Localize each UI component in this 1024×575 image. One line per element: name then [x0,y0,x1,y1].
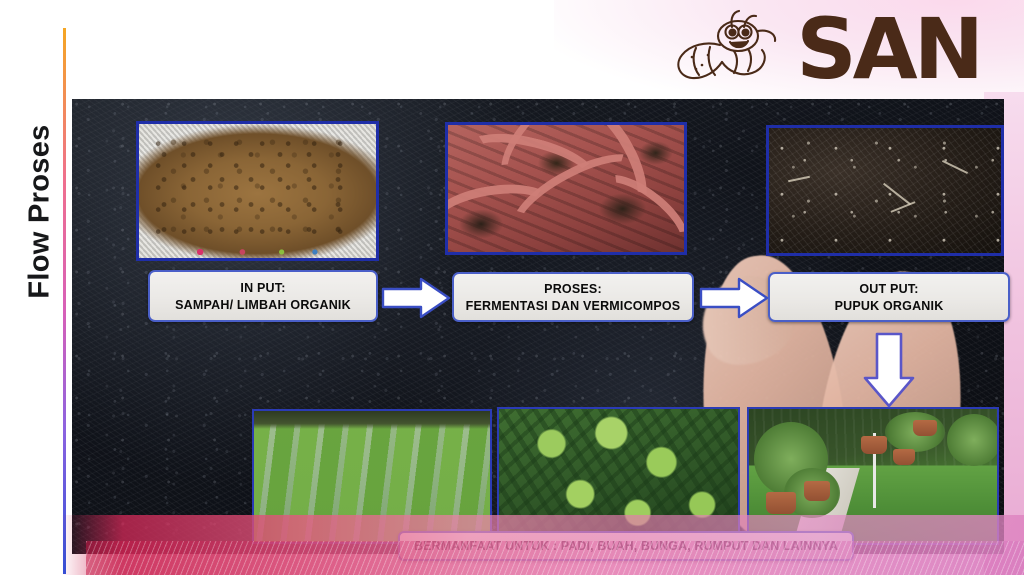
main-photo-panel [72,99,1004,554]
arrow-right-process-to-output [699,277,769,319]
photo-rice-paddy [252,409,492,544]
flow-box-output-detail: PUPUK ORGANIK [835,299,944,313]
photo-garden-pots [747,407,999,545]
photo-organic-fertilizer [766,125,1004,256]
page-title: Flow Proses [24,67,57,357]
arrow-right-input-to-process [381,277,451,319]
garden-pot [893,449,915,465]
waste-confetti-bits [182,249,334,255]
flow-box-output[interactable]: OUT PUT: PUPUK ORGANIK [768,272,1010,322]
flow-box-input-detail: SAMPAH/ LIMBAH ORGANIK [175,298,351,312]
paddy-horizon [254,411,490,429]
garden-pot [913,420,937,436]
flow-box-input[interactable]: IN PUT: SAMPAH/ LIMBAH ORGANIK [148,270,378,322]
worm-mascot-icon [672,7,792,91]
results-caption-text: BERMANFAAT UNTUK : PADI, BUAH, BUNGA, RU… [414,539,838,553]
photo-earthworms [445,122,687,255]
flow-box-input-title: IN PUT: [240,281,285,295]
garden-pot [861,436,887,454]
waste-speckle-texture [153,137,362,244]
garden-pot [804,481,830,501]
photo-organic-waste [136,121,379,261]
results-caption-bar[interactable]: BERMANFAAT UNTUK : PADI, BUAH, BUNGA, RU… [398,531,854,561]
brand-logo: SAN [672,6,980,92]
arrow-down-output-to-results [859,332,919,408]
garden-shrub [947,414,999,466]
compost-fleck-texture [769,128,1001,253]
garden-pot [766,492,796,514]
brand-wordmark: SAN [796,13,980,85]
flow-box-process-title: PROSES: [544,282,602,296]
sidebar-accent-rule [63,28,66,574]
slide-canvas: Flow Proses [0,0,1024,575]
flow-box-process[interactable]: PROSES: FERMENTASI DAN VERMICOMPOS [452,272,694,322]
flow-box-output-title: OUT PUT: [859,282,918,296]
flow-box-process-detail: FERMENTASI DAN VERMICOMPOS [466,299,681,313]
photo-tomato-plants [497,407,740,544]
